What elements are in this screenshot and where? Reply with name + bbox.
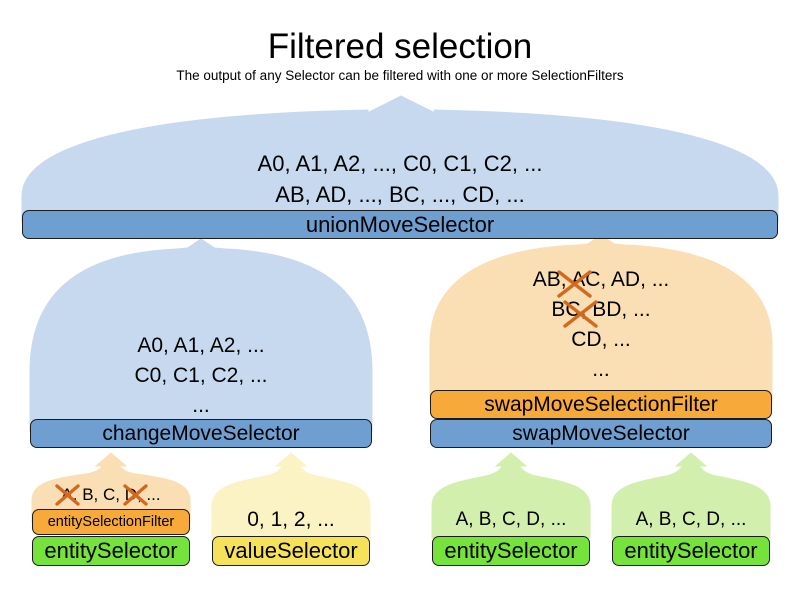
union-dome-shape [22,96,778,222]
page-title: Filtered selection [0,26,800,68]
entity-selector-swap-left-bar[interactable]: entitySelector [432,536,590,566]
entity-selection-filter-label: entitySelectionFilter [48,514,175,530]
change-dome-shape [30,239,372,432]
swap-dome-shape [430,235,772,404]
entity-selector-filtered-label: entitySelector [44,538,177,564]
value-selector-label: valueSelector [224,538,357,564]
swap-move-selector-bar[interactable]: swapMoveSelector [430,419,772,448]
union-move-selector-label: unionMoveSelector [306,212,494,238]
change-move-selector-bar[interactable]: changeMoveSelector [30,419,372,448]
swap-move-selection-filter-bar[interactable]: swapMoveSelectionFilter [430,390,772,419]
swap-move-selector-label: swapMoveSelector [512,422,689,446]
entity-swap-right-blob-shape [612,453,770,538]
page-subtitle: The output of any Selector can be filter… [0,68,800,84]
value-blob-shape [212,453,370,538]
entity-swap-left-blob-shape [432,453,590,538]
swap-move-selection-filter-label: swapMoveSelectionFilter [484,393,717,417]
entity-selection-filter-bar[interactable]: entitySelectionFilter [32,509,190,535]
change-move-selector-label: changeMoveSelector [102,422,299,446]
union-move-selector-bar[interactable]: unionMoveSelector [22,210,778,239]
entity-selector-filtered-bar[interactable]: entitySelector [32,536,190,566]
diagram-canvas: Filtered selection The output of any Sel… [0,0,800,600]
entity-selector-swap-left-label: entitySelector [444,538,577,564]
value-selector-bar[interactable]: valueSelector [212,536,370,566]
entity-selector-swap-right-label: entitySelector [624,538,757,564]
entity-selector-swap-right-bar[interactable]: entitySelector [612,536,770,566]
